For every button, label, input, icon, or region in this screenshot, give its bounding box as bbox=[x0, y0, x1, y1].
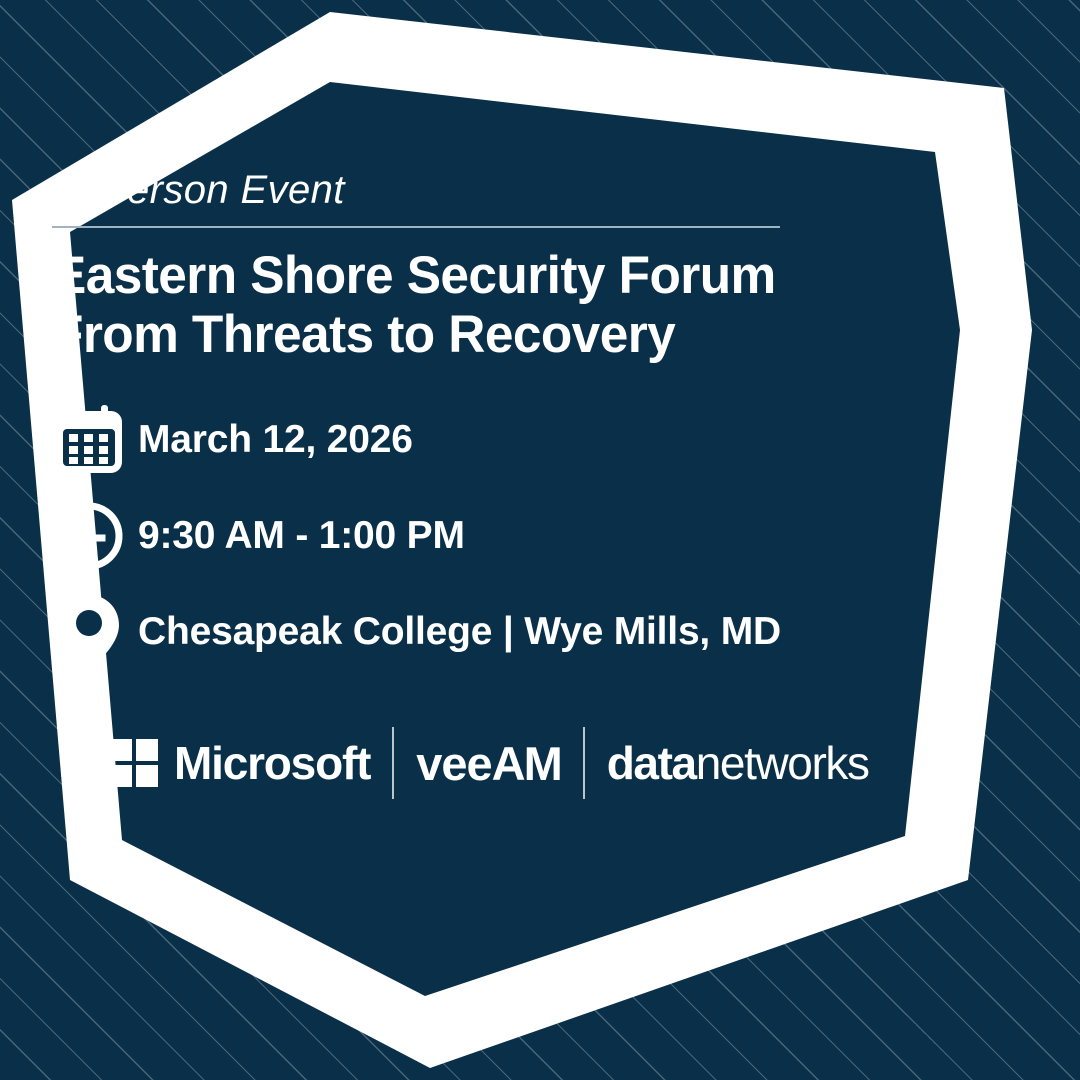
event-type-eyebrow: In-Person Event bbox=[52, 168, 852, 212]
page-title: Eastern Shore Security Forum From Threat… bbox=[52, 246, 828, 365]
veeam-wordmark-part1: vee bbox=[416, 740, 491, 787]
event-time-label: 9:30 AM - 1:00 PM bbox=[138, 514, 465, 558]
veeam-wordmark-part2: AM bbox=[492, 740, 561, 787]
poster-content: In-Person Event Eastern Shore Security F… bbox=[0, 0, 1080, 1080]
datanetworks-wordmark-part1: data bbox=[607, 740, 696, 786]
map-pin-icon bbox=[52, 592, 138, 672]
logo-divider-2 bbox=[583, 727, 585, 799]
calendar-icon bbox=[52, 403, 138, 477]
event-location-label: Chesapeak College | Wye Mills, MD bbox=[138, 610, 781, 654]
clock-icon bbox=[52, 499, 138, 573]
detail-row-date: March 12, 2026 bbox=[52, 392, 872, 488]
eyebrow-divider-rule bbox=[52, 226, 780, 228]
detail-row-location: Chesapeak College | Wye Mills, MD bbox=[52, 584, 872, 680]
four-square-grid-icon bbox=[110, 739, 158, 787]
logo-divider-1 bbox=[392, 727, 394, 799]
event-date-label: March 12, 2026 bbox=[138, 418, 413, 462]
detail-row-time: 9:30 AM - 1:00 PM bbox=[52, 488, 872, 584]
veeam-logo: veeAM bbox=[416, 727, 561, 799]
microsoft-logo: Microsoft bbox=[110, 727, 370, 799]
datanetworks-logo: datanetworks bbox=[607, 727, 869, 799]
event-poster: In-Person Event Eastern Shore Security F… bbox=[0, 0, 1080, 1080]
microsoft-wordmark: Microsoft bbox=[174, 740, 370, 786]
title-line-2: From Threats to Recovery bbox=[52, 305, 828, 364]
datanetworks-wordmark-part2: networks bbox=[696, 740, 869, 786]
event-details-list: March 12, 2026 9:30 AM - 1:00 PM bbox=[52, 392, 872, 680]
title-line-1: Eastern Shore Security Forum bbox=[52, 246, 776, 305]
sponsor-logo-bar: Microsoft veeAM datanetworks bbox=[110, 727, 869, 799]
headline-block: In-Person Event Eastern Shore Security F… bbox=[52, 168, 852, 365]
